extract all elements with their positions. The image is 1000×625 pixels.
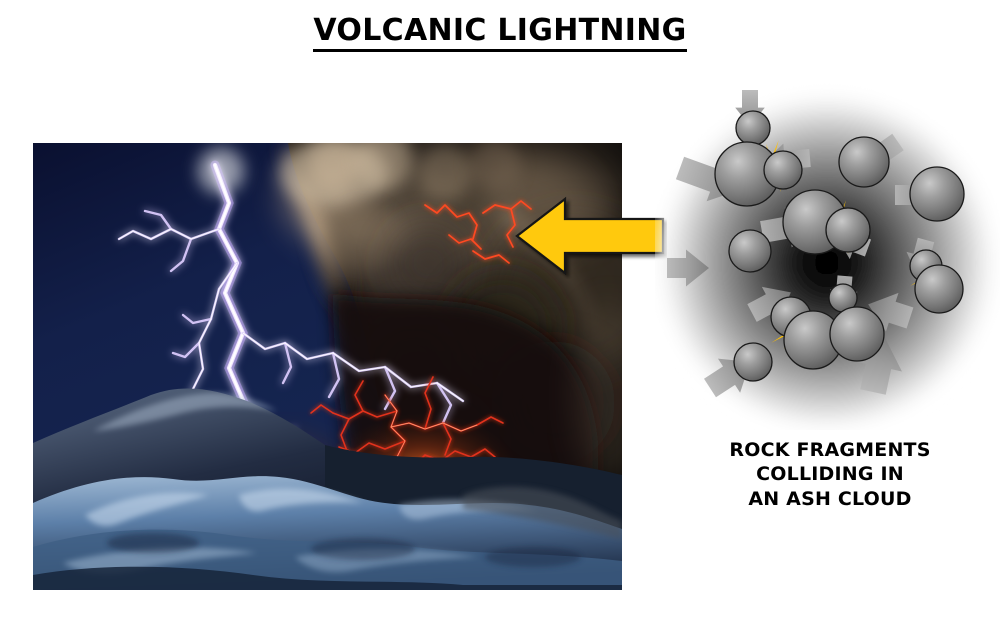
diagram-canvas [655,70,1000,430]
rock-fragment [915,265,963,313]
rock-fragment [839,137,889,187]
caption-line-2: COLLIDING IN [680,462,980,486]
rock-fragment [736,111,770,145]
pointer-arrow-shape [517,199,663,273]
rock-fragment [910,167,964,221]
pointer-arrow-graphic [515,193,667,279]
rock-fragment [830,307,884,361]
rock-fragment [729,230,771,272]
title-bar: VOLCANIC LIGHTNING [0,14,1000,52]
rock-fragment [826,208,870,252]
caption-line-3: AN ASH CLOUD [680,487,980,511]
ash-cloud-collision-diagram [655,70,1000,430]
rock-fragment [734,343,772,381]
page-title: VOLCANIC LIGHTNING [313,14,686,52]
ash-cloud-body [659,88,995,424]
rock-fragment [764,151,802,189]
pointer-arrow [515,193,667,279]
caption-line-1: ROCK FRAGMENTS [680,438,980,462]
diagram-caption: ROCK FRAGMENTS COLLIDING IN AN ASH CLOUD [680,438,980,511]
